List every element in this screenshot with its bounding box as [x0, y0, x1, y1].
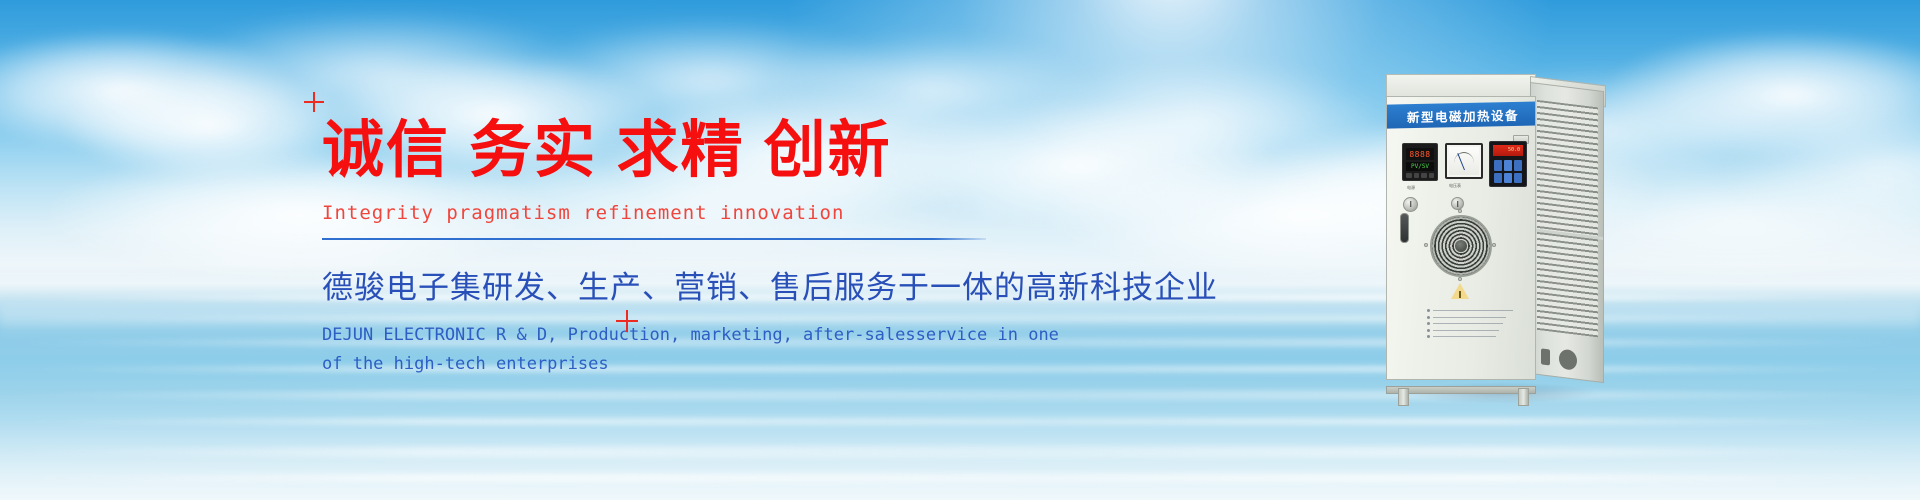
machine-spec-plate	[1427, 309, 1513, 342]
plus-mark-top	[304, 92, 324, 112]
fan-screw-top	[1458, 209, 1462, 213]
promo-banner: 诚信 务实 求精 创新 Integrity pragmatism refinem…	[0, 0, 1920, 500]
tagline-english-line-2: of the high-tech enterprises	[322, 350, 1022, 379]
keypad-key-4[interactable]	[1494, 173, 1502, 184]
keypad-readout: 50.0	[1493, 145, 1523, 156]
adjust-knob[interactable]	[1451, 197, 1464, 210]
headline-english: Integrity pragmatism refinement innovati…	[322, 202, 1022, 224]
headline-chinese: 诚信 务实 求精 创新	[322, 120, 1022, 182]
controller-button-2[interactable]	[1414, 173, 1420, 178]
spec-row	[1427, 335, 1496, 338]
controller-buttons[interactable]	[1406, 173, 1434, 178]
keypad-keys[interactable]	[1494, 160, 1522, 183]
fan-screw-right	[1492, 243, 1496, 247]
machine-instrument-cluster: 8888 PV/SV	[1397, 141, 1531, 191]
voltmeter-face	[1449, 147, 1479, 175]
banner-copy: 诚信 务实 求精 创新 Integrity pragmatism refinem…	[322, 96, 1022, 379]
analog-voltmeter	[1445, 143, 1483, 179]
machine-brand-banner: 新型电磁加热设备	[1386, 101, 1536, 128]
keypad-key-2[interactable]	[1504, 160, 1512, 171]
spec-row	[1427, 309, 1513, 312]
knob-indicator-1	[1410, 201, 1412, 207]
machine-front-panel: 新型电磁加热设备 8888 PV/SV	[1386, 96, 1536, 380]
fan-screw-left	[1424, 243, 1428, 247]
machine-side-panel	[1530, 82, 1604, 383]
spec-row	[1427, 316, 1506, 319]
machine-vent-louvers	[1537, 100, 1598, 337]
power-switch-knob[interactable]	[1403, 197, 1418, 212]
digital-readout-value: 8888	[1409, 150, 1430, 159]
controller-button-1[interactable]	[1406, 173, 1412, 178]
tagline-english-line-1: DEJUN ELECTRONIC R & D, Production, mark…	[322, 321, 1022, 350]
label-voltmeter: 电压表	[1449, 183, 1461, 189]
controller-button-4[interactable]	[1429, 173, 1435, 178]
product-image-heating-equipment: 新型电磁加热设备 8888 PV/SV	[1380, 62, 1620, 392]
plus-mark-bottom	[616, 310, 638, 332]
spec-row	[1427, 322, 1503, 325]
power-control-keypad[interactable]: 50.0	[1489, 141, 1527, 187]
keypad-key-3[interactable]	[1514, 160, 1522, 171]
digital-readout-secondary: PV/SV	[1406, 162, 1434, 171]
digital-readout-primary: 8888	[1406, 148, 1434, 160]
divider-rule	[322, 238, 986, 240]
machine-leg-right	[1518, 388, 1529, 406]
cooling-fan-grille	[1430, 215, 1492, 277]
fan-hub	[1455, 240, 1467, 252]
machine-door-handle[interactable]	[1400, 213, 1409, 243]
machine-top-face	[1386, 74, 1536, 98]
machine-leg-left	[1398, 388, 1409, 406]
keypad-key-5[interactable]	[1504, 173, 1512, 184]
keypad-key-6[interactable]	[1514, 173, 1522, 184]
label-digital-controller: 电源	[1407, 185, 1415, 191]
tagline-english-block: DEJUN ELECTRONIC R & D, Production, mark…	[322, 321, 1022, 379]
warning-bolt	[1459, 291, 1461, 298]
digital-temperature-controller[interactable]: 8888 PV/SV	[1402, 143, 1438, 181]
knob-indicator-2	[1457, 201, 1459, 207]
controller-button-3[interactable]	[1421, 173, 1427, 178]
machine-brand-label: 新型电磁加热设备	[1407, 104, 1519, 125]
keypad-display: 50.0	[1493, 145, 1523, 156]
tagline-chinese: 德骏电子集研发、生产、营销、售后服务于一体的高新科技企业	[322, 262, 1022, 307]
spec-row	[1427, 329, 1499, 332]
fan-screw-bottom	[1458, 277, 1462, 281]
machine-side-port	[1541, 348, 1550, 365]
digital-readout-sub: PV/SV	[1406, 162, 1434, 171]
machine-side-outlet	[1559, 349, 1577, 371]
keypad-key-1[interactable]	[1494, 160, 1502, 171]
